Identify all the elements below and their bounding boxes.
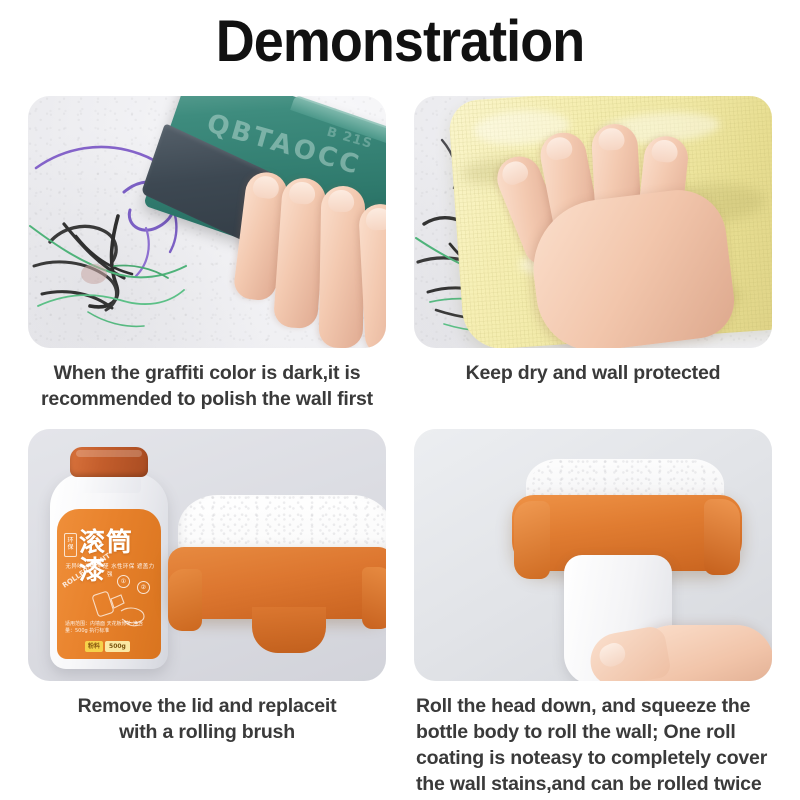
photo-replace-lid: 环保 滚筒漆 无异味 净化甲醛 水性环保 遮盖力强 ROLLER PAINT: [28, 429, 386, 681]
caption-line: bottle body to roll the wall; One roll: [416, 719, 772, 745]
label-footer-text: 适用范围：内墙面 天花板修补 净含量：500g 执行标准: [65, 621, 153, 635]
caption-keep-dry: Keep dry and wall protected: [414, 360, 772, 386]
demonstration-page: Demonstration: [0, 0, 800, 800]
caption-polish-wall: When the graffiti color is dark,it is re…: [28, 360, 386, 412]
thumbnail: [596, 640, 629, 671]
caption-line: the wall stains,and can be rolled twice: [416, 771, 772, 797]
caption-line: recommended to polish the wall first: [28, 386, 386, 412]
thumb: [586, 625, 672, 681]
fingernail: [651, 139, 679, 164]
label-badge-two: ②: [137, 581, 150, 594]
fingernail: [288, 181, 315, 205]
photo-polish-wall: QBTAOCC TA0 B 21S HL: [28, 96, 386, 348]
fingernail: [598, 128, 625, 151]
roller-brush: [168, 495, 386, 663]
label-side-tag: 环保: [64, 533, 77, 557]
caption-line: with a rolling brush: [28, 719, 386, 745]
caption-line: Remove the lid and replaceit: [28, 693, 386, 719]
caption-line: Keep dry and wall protected: [414, 360, 772, 386]
roller-stem: [252, 607, 326, 653]
label-chip: 粉料: [85, 641, 103, 652]
fingernail: [544, 135, 574, 162]
caption-line: Roll the head down, and squeeze the: [416, 693, 772, 719]
caption-line: When the graffiti color is dark,it is: [28, 360, 386, 386]
fingernail: [252, 175, 280, 200]
photo-keep-dry: [414, 96, 772, 348]
caption-replace-lid: Remove the lid and replaceit with a roll…: [28, 693, 386, 745]
fingernail: [328, 190, 354, 212]
hand-squeezing-bottle: [590, 605, 772, 681]
label-weight: 500g: [105, 641, 130, 652]
hand-wiping-wall: [510, 120, 736, 344]
paint-bottle: 环保 滚筒漆 无异味 净化甲醛 水性环保 遮盖力强 ROLLER PAINT: [50, 447, 168, 669]
panel-roll-wall: Roll the head down, and squeeze the bott…: [414, 429, 772, 800]
label-weight-badge: 粉料 500g: [85, 641, 130, 652]
label-badge-one: ①: [117, 575, 130, 588]
photo-roll-wall: [414, 429, 772, 681]
bottle-cap: [70, 447, 148, 477]
roller-left-lip: [168, 569, 202, 631]
hand-holding-sander: [236, 170, 386, 348]
roller-right-lip: [704, 499, 740, 575]
fingernail: [365, 207, 386, 230]
caption-roll-wall: Roll the head down, and squeeze the bott…: [414, 693, 772, 800]
panel-keep-dry: Keep dry and wall protected: [414, 96, 772, 386]
roller-right-lip: [362, 567, 386, 629]
page-title: Demonstration: [28, 10, 772, 74]
finger: [319, 186, 366, 348]
fingernail: [499, 158, 531, 188]
panel-polish-wall: QBTAOCC TA0 B 21S HL: [28, 96, 386, 412]
caption-line: coating is noteasy to completely cover: [416, 745, 772, 771]
roller-left-lip: [514, 501, 550, 579]
product-label: 环保 滚筒漆 无异味 净化甲醛 水性环保 遮盖力强 ROLLER PAINT: [57, 509, 161, 659]
panel-replace-lid: 环保 滚筒漆 无异味 净化甲醛 水性环保 遮盖力强 ROLLER PAINT: [28, 429, 386, 745]
panel-grid: QBTAOCC TA0 B 21S HL: [0, 96, 800, 800]
